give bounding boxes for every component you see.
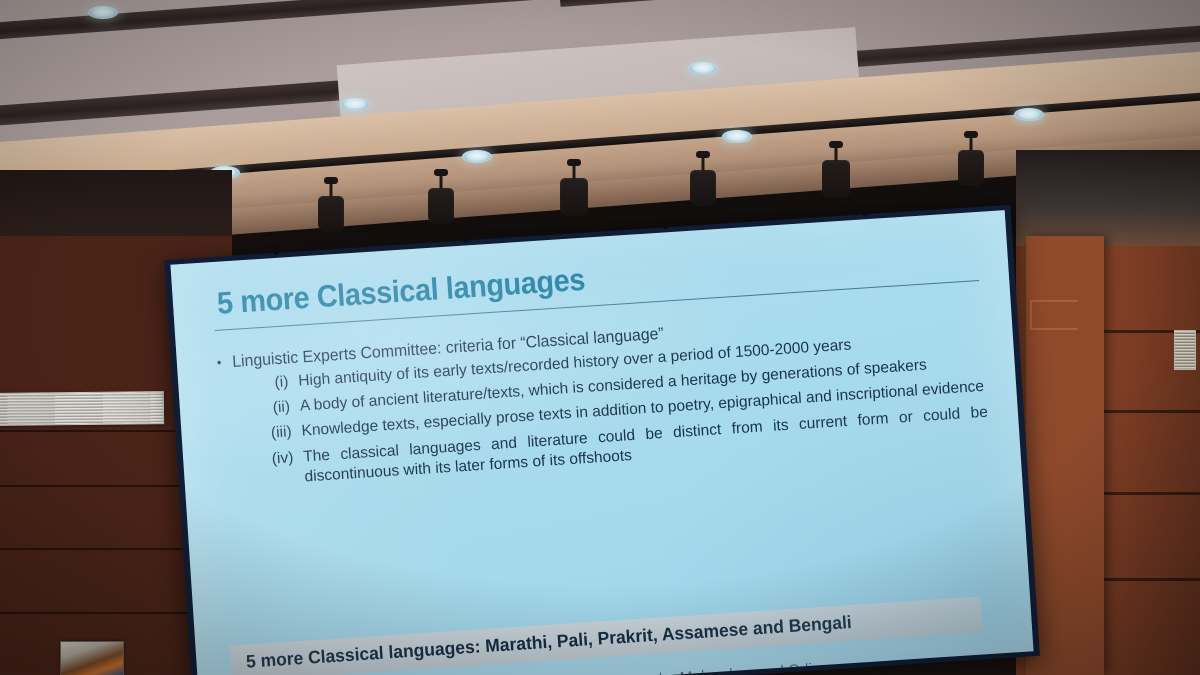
screen-hanger-clip: [273, 246, 279, 255]
screen-hanger-clip: [663, 220, 669, 229]
stage-spotlight-icon: [958, 150, 984, 186]
screen-frame: 5 more Classical languages • Linguistic …: [164, 205, 1040, 675]
wood-panel-seam: [1104, 410, 1200, 413]
criteria-numeral: (iii): [257, 422, 302, 445]
wall-vent: [1174, 330, 1196, 370]
criteria-numeral: (i): [254, 372, 299, 395]
downlight-icon: [462, 150, 492, 163]
stage-spotlight-icon: [560, 178, 588, 216]
criteria-numeral: (ii): [255, 397, 300, 420]
wood-panel-seam: [1104, 578, 1200, 581]
criteria-numeral: (iv): [259, 447, 306, 490]
screen-hanger-clip: [862, 207, 868, 216]
presentation-photo-scene: 5 more Classical languages • Linguistic …: [0, 0, 1200, 675]
screen-hanger-clip: [463, 233, 469, 242]
wood-panel-seam: [1104, 492, 1200, 495]
wall-trim-detail: [1030, 300, 1078, 330]
hvac-grille: [0, 391, 164, 426]
stage-spotlight-icon: [428, 188, 454, 224]
stage-spotlight-icon: [822, 160, 850, 198]
stage-spotlight-icon: [318, 196, 344, 232]
downlight-icon: [340, 98, 370, 111]
projection-screen[interactable]: 5 more Classical languages • Linguistic …: [164, 205, 1040, 675]
slide-title: 5 more Classical languages: [216, 241, 929, 320]
stage-spotlight-icon: [690, 170, 716, 206]
wall-flyer: [60, 641, 124, 675]
downlight-icon: [688, 62, 718, 75]
downlight-icon: [722, 130, 752, 143]
highlight-callout: 5 more Classical languages: Marathi, Pal…: [229, 597, 982, 675]
slide-canvas: 5 more Classical languages • Linguistic …: [170, 210, 1033, 675]
downlight-icon: [88, 6, 118, 19]
bullet-icon: •: [216, 352, 233, 374]
slide-body: • Linguistic Experts Committee: criteria…: [216, 303, 993, 493]
right-wall-upper-dark: [1016, 150, 1200, 246]
downlight-icon: [1014, 108, 1044, 121]
